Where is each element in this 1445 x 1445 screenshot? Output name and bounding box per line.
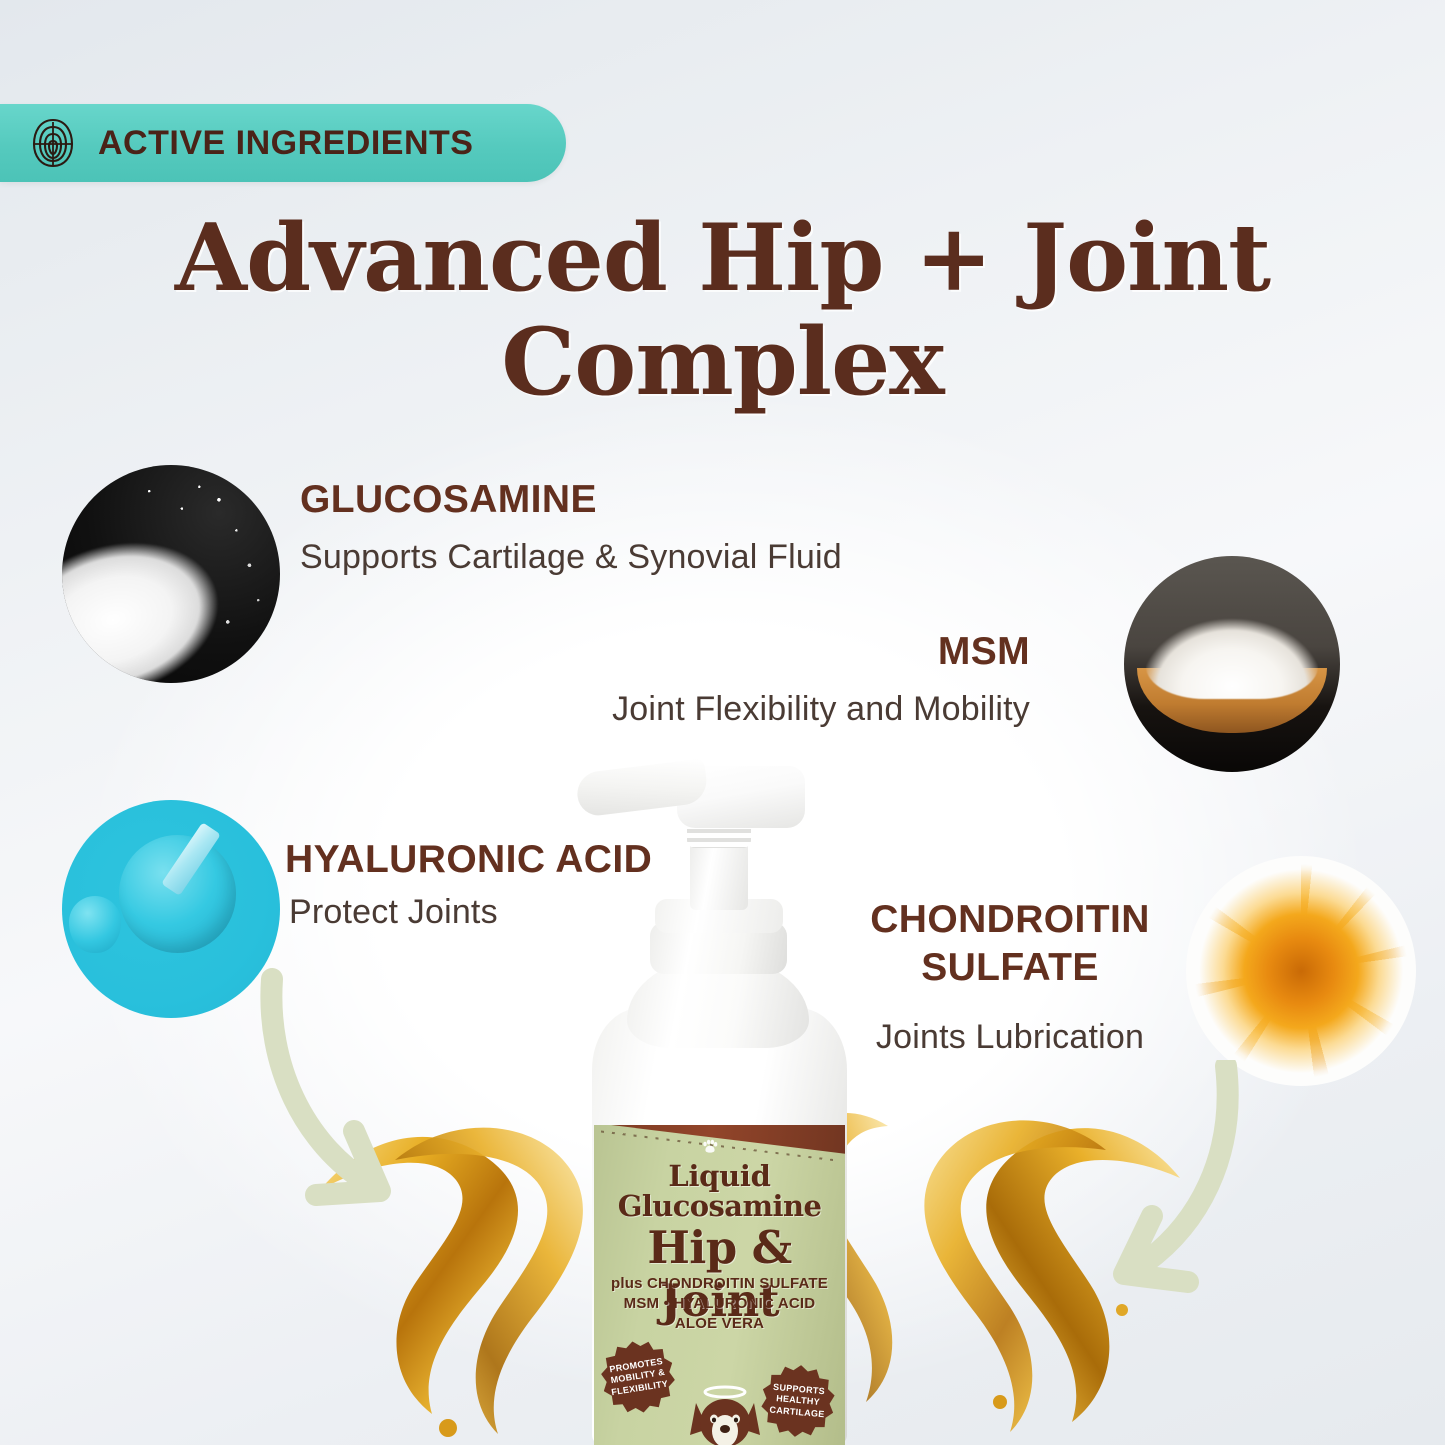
- infographic-canvas: ACTIVE INGREDIENTS Advanced Hip + Joint …: [0, 0, 1445, 1445]
- hyaluronic-acid-subtitle: Protect Joints: [289, 893, 498, 932]
- title-line-1: Advanced Hip + Joint: [175, 203, 1270, 312]
- paw-print-icon: [702, 1139, 718, 1154]
- fingerprint-leaf-icon: [30, 117, 76, 169]
- glucosamine-image: [62, 465, 280, 683]
- supports-cartilage-seal: SUPPORTS HEALTHY CARTILAGE: [759, 1362, 837, 1440]
- bottle-label: Liquid Glucosamine Hip & Joint plus CHON…: [594, 1125, 845, 1445]
- title-line-2: Complex: [0, 310, 1445, 414]
- active-ingredients-label: ACTIVE INGREDIENTS: [98, 124, 473, 163]
- label-line-2: Glucosamine: [594, 1189, 845, 1223]
- chondroitin-title-line-2: SULFATE: [921, 946, 1099, 989]
- promotes-mobility-seal: PROMOTES MOBILITY & FLEXIBILITY: [597, 1336, 679, 1418]
- dog-mascot-icon: [686, 1379, 764, 1445]
- chondroitin-sulfate-image: [1186, 856, 1416, 1086]
- label-line-1: Liquid: [594, 1159, 845, 1193]
- chondroitin-title-line-1: CHONDROITIN: [870, 898, 1150, 941]
- glucosamine-title: GLUCOSAMINE: [300, 478, 597, 522]
- label-line-4: plus CHONDROITIN SULFATE: [594, 1275, 845, 1292]
- chondroitin-sulfate-title: CHONDROITIN SULFATE: [845, 896, 1175, 991]
- label-line-5: MSM • HYALURONIC ACID: [594, 1295, 845, 1312]
- right-pointer-arrow-icon: [1040, 1060, 1250, 1300]
- label-top-band: [594, 1125, 845, 1156]
- powder-burst: [1195, 865, 1407, 1077]
- product-bottle: Liquid Glucosamine Hip & Joint plus CHON…: [545, 760, 890, 1445]
- page-title: Advanced Hip + Joint Complex: [0, 206, 1445, 414]
- label-line-6: ALOE VERA: [594, 1315, 845, 1332]
- msm-subtitle: Joint Flexibility and Mobility: [500, 690, 1030, 729]
- powder-heap: [1146, 608, 1319, 699]
- left-pointer-arrow-icon: [250, 955, 450, 1215]
- pump-neck: [690, 838, 748, 910]
- powder-specks: [62, 465, 280, 683]
- msm-image: [1124, 556, 1340, 772]
- msm-title: MSM: [700, 630, 1030, 674]
- hyaluronic-acid-image: [62, 800, 280, 1018]
- glucosamine-subtitle: Supports Cartilage & Synovial Fluid: [300, 538, 842, 577]
- gel-droplet-small: [69, 896, 121, 953]
- active-ingredients-badge: ACTIVE INGREDIENTS: [0, 104, 566, 182]
